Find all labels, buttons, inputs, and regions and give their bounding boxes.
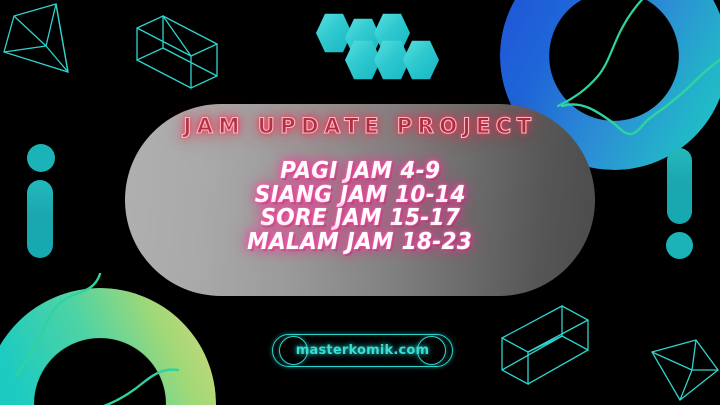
- schedule-item-malam: MALAM JAM 18-23: [247, 231, 472, 255]
- hexagon-5: [374, 40, 410, 80]
- page-title: JAM UPDATE PROJECT: [183, 114, 536, 138]
- schedule-item-siang: SIANG JAM 10-14: [255, 184, 466, 208]
- hexagon-4: [345, 40, 381, 80]
- schedule-item-sore: SORE JAM 15-17: [260, 207, 460, 231]
- hexagon-1: [316, 13, 352, 53]
- poster-canvas: JAM UPDATE PROJECT PAGI JAM 4-9 SIANG JA…: [0, 0, 720, 405]
- gem-bottom-right-icon: [648, 330, 720, 402]
- letter-i-stem: [27, 180, 53, 258]
- content-panel-inner: JAM UPDATE PROJECT PAGI JAM 4-9 SIANG JA…: [125, 104, 595, 296]
- schedule-list: PAGI JAM 4-9 SIANG JAM 10-14 SORE JAM 15…: [240, 160, 479, 255]
- letter-i-dot: [27, 144, 55, 172]
- gradient-ring-bottom-left: [0, 288, 216, 405]
- hexagon-2: [345, 18, 381, 58]
- prism-bottom-right-icon: [500, 306, 596, 392]
- wave-line-bottom-left-inner: [60, 338, 180, 405]
- exclamation-stem: [667, 148, 692, 224]
- hexagon-3: [374, 13, 410, 53]
- website-badge[interactable]: masterkomik.com: [272, 334, 453, 367]
- content-panel: JAM UPDATE PROJECT PAGI JAM 4-9 SIANG JA…: [125, 104, 595, 296]
- wave-line-ring-inner: [540, 0, 670, 120]
- prism-top-left-icon: [133, 12, 225, 96]
- gem-top-left-icon: [2, 2, 88, 76]
- exclamation-dot: [666, 232, 693, 259]
- schedule-item-pagi: PAGI JAM 4-9: [280, 160, 440, 184]
- website-url-text: masterkomik.com: [272, 334, 453, 367]
- hexagon-6: [403, 40, 439, 80]
